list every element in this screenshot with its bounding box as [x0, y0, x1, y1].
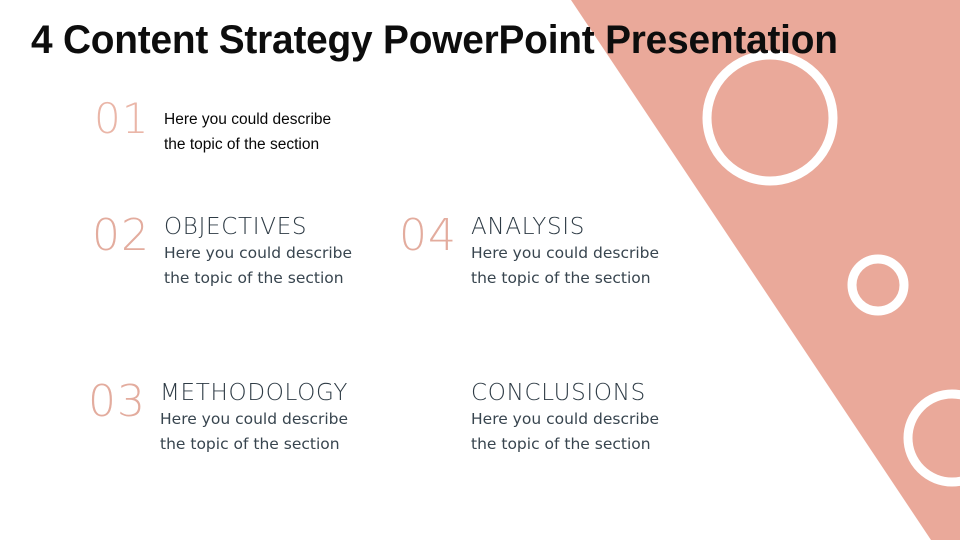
item-number-04: 04 — [399, 214, 471, 258]
medium-ring-icon — [852, 259, 904, 311]
content-item-04: 04 ANALYSIS Here you could describe the … — [399, 214, 659, 291]
item-heading-analysis: ANALYSIS — [471, 214, 659, 241]
item-body-03: METHODOLOGY Here you could describe the … — [160, 380, 348, 457]
item-heading-methodology: METHODOLOGY — [160, 380, 348, 407]
presentation-slide: 4 Content Strategy PowerPoint Presentati… — [0, 0, 960, 540]
content-item-01: 01 Here you could describe the topic of … — [94, 97, 331, 157]
content-item-03: 03 METHODOLOGY Here you could describe t… — [88, 380, 348, 457]
item-number-01: 01 — [94, 97, 164, 141]
page-title: 4 Content Strategy PowerPoint Presentati… — [31, 17, 914, 63]
large-ring-icon — [707, 55, 833, 181]
item-body-04: ANALYSIS Here you could describe the top… — [471, 214, 659, 291]
item-text-methodology: Here you could describe the topic of the… — [160, 407, 348, 457]
item-body-conclusions: CONCLUSIONS Here you could describe the … — [471, 380, 659, 457]
item-body-02: OBJECTIVES Here you could describe the t… — [164, 214, 352, 291]
item-text-analysis: Here you could describe the topic of the… — [471, 241, 659, 291]
item-text-objectives: Here you could describe the topic of the… — [164, 241, 352, 291]
item-text-conclusions: Here you could describe the topic of the… — [471, 407, 659, 457]
content-item-conclusions: CONCLUSIONS Here you could describe the … — [399, 380, 659, 457]
item-heading-objectives: OBJECTIVES — [164, 214, 352, 241]
item-number-02: 02 — [92, 214, 164, 258]
item-text-01: Here you could describe the topic of the… — [164, 97, 331, 157]
item-number-03: 03 — [88, 380, 160, 424]
item-heading-conclusions: CONCLUSIONS — [471, 380, 659, 407]
content-item-02: 02 OBJECTIVES Here you could describe th… — [92, 214, 352, 291]
item-body-01: Here you could describe the topic of the… — [164, 97, 331, 157]
edge-ring-icon — [908, 394, 960, 482]
